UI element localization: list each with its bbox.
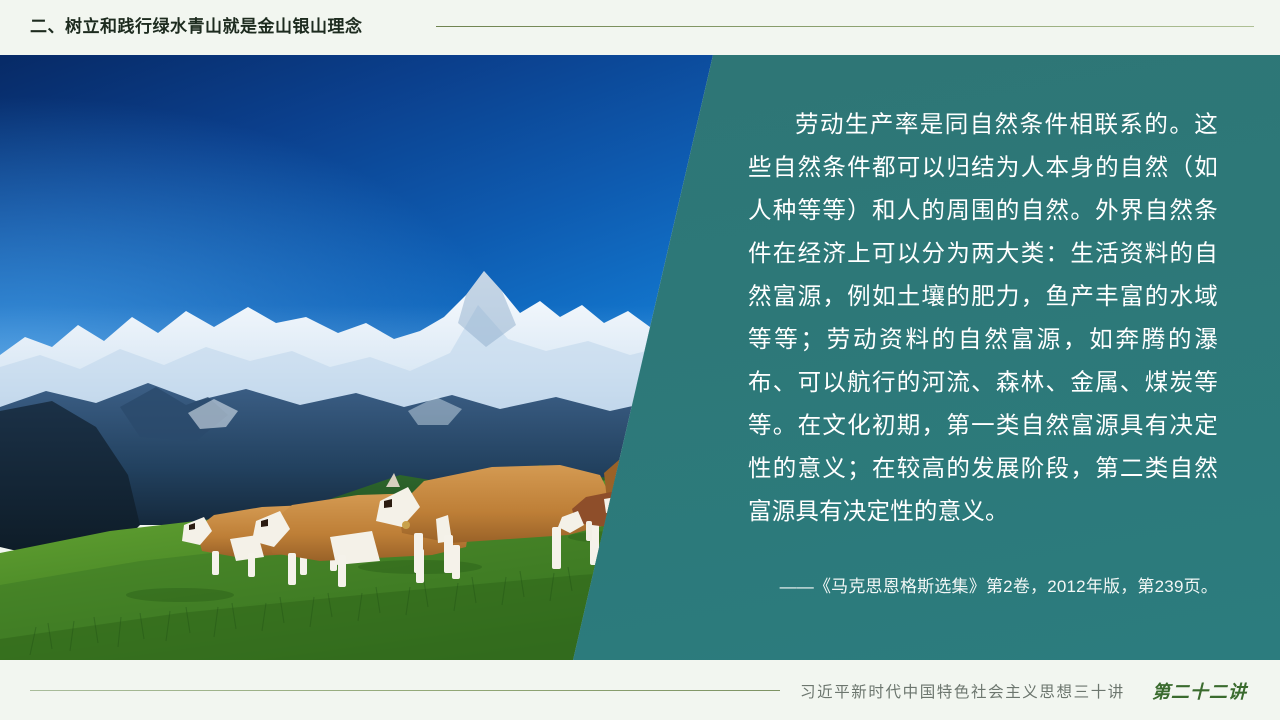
footer-lecture-number: 第二十二讲 [1152, 678, 1247, 704]
slide-footer: 习近平新时代中国特色社会主义思想三十讲 第二十二讲 [0, 660, 1280, 720]
footer-divider-line [30, 690, 780, 691]
slide: 二、树立和践行绿水青山就是金山银山理念 [0, 0, 1280, 720]
footer-course-title: 习近平新时代中国特色社会主义思想三十讲 [800, 680, 1125, 702]
quote-text: 劳动生产率是同自然条件相联系的。这些自然条件都可以归结为人本身的自然（如人种等等… [748, 103, 1218, 533]
header-divider-line [436, 26, 1254, 27]
quote-citation: ——《马克思恩格斯选集》第2卷，2012年版，第239页。 [740, 574, 1218, 600]
page-title: 二、树立和践行绿水青山就是金山银山理念 [30, 12, 363, 37]
content-band: 劳动生产率是同自然条件相联系的。这些自然条件都可以归结为人本身的自然（如人种等等… [0, 55, 1280, 660]
slide-header: 二、树立和践行绿水青山就是金山银山理念 [0, 0, 1280, 55]
